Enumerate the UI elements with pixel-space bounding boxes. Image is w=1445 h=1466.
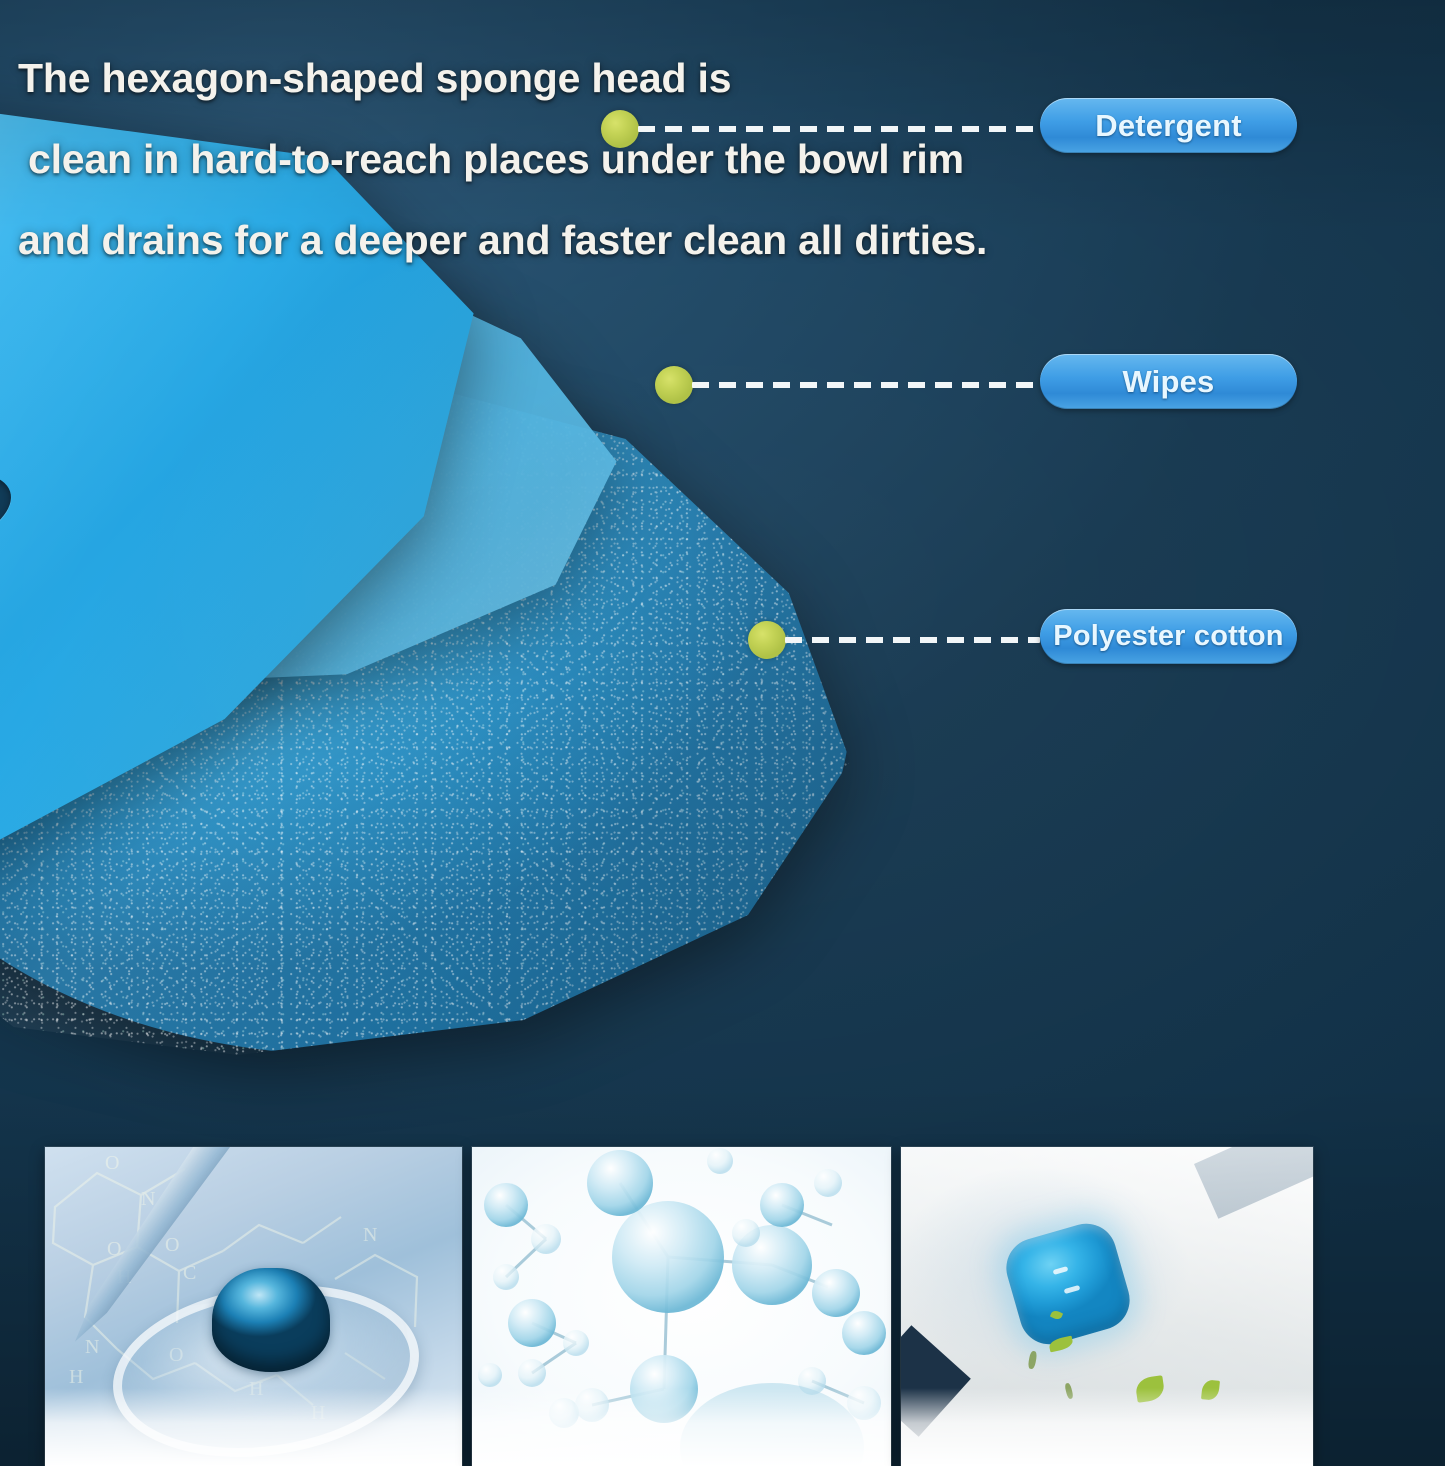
sponge-stack-illustration bbox=[0, 95, 950, 1085]
svg-text:N: N bbox=[141, 1188, 155, 1210]
callout-badge-wipes[interactable]: Wipes bbox=[1040, 354, 1297, 409]
svg-text:N: N bbox=[85, 1336, 99, 1358]
callout-line-polyester-cotton bbox=[785, 637, 1040, 643]
callout-badge-label: Polyester cotton bbox=[1053, 620, 1283, 653]
callout-badge-detergent[interactable]: Detergent bbox=[1040, 98, 1297, 153]
photo-bottom-fade bbox=[45, 1388, 462, 1466]
callout-line-detergent bbox=[638, 126, 1040, 132]
svg-text:N: N bbox=[363, 1224, 377, 1246]
callout-dot-polyester-cotton bbox=[748, 621, 786, 659]
photo-art bbox=[472, 1147, 891, 1466]
detergent-sponge-layer bbox=[0, 95, 540, 875]
molecule-photo[interactable] bbox=[472, 1147, 891, 1466]
toilet-bowl-photo[interactable] bbox=[901, 1147, 1313, 1466]
svg-text:O: O bbox=[105, 1152, 119, 1174]
detergent-photo[interactable]: O N O H O C N H O H H N bbox=[45, 1147, 462, 1466]
svg-text:O: O bbox=[107, 1238, 121, 1260]
callout-line-wipes bbox=[692, 382, 1040, 388]
callout-badge-label: Detergent bbox=[1095, 108, 1242, 144]
photo-art: O N O H O C N H O H H N bbox=[45, 1147, 462, 1466]
callout-dot-wipes bbox=[655, 366, 693, 404]
photo-bottom-fade bbox=[472, 1388, 891, 1466]
photo-bottom-fade bbox=[901, 1388, 1313, 1466]
callout-badge-polyester-cotton[interactable]: Polyester cotton bbox=[1040, 609, 1297, 664]
callout-badge-label: Wipes bbox=[1122, 364, 1214, 400]
sponge-gloss bbox=[0, 95, 540, 875]
photo-art bbox=[901, 1147, 1313, 1466]
svg-text:C: C bbox=[183, 1262, 196, 1284]
blue-droplet bbox=[212, 1268, 330, 1372]
photo-strip: O N O H O C N H O H H N bbox=[0, 1140, 1445, 1466]
callout-dot-detergent bbox=[601, 110, 639, 148]
svg-text:H: H bbox=[69, 1366, 83, 1388]
product-infographic: The hexagon-shaped sponge head is clean … bbox=[0, 0, 1445, 1466]
svg-text:O: O bbox=[165, 1234, 179, 1256]
